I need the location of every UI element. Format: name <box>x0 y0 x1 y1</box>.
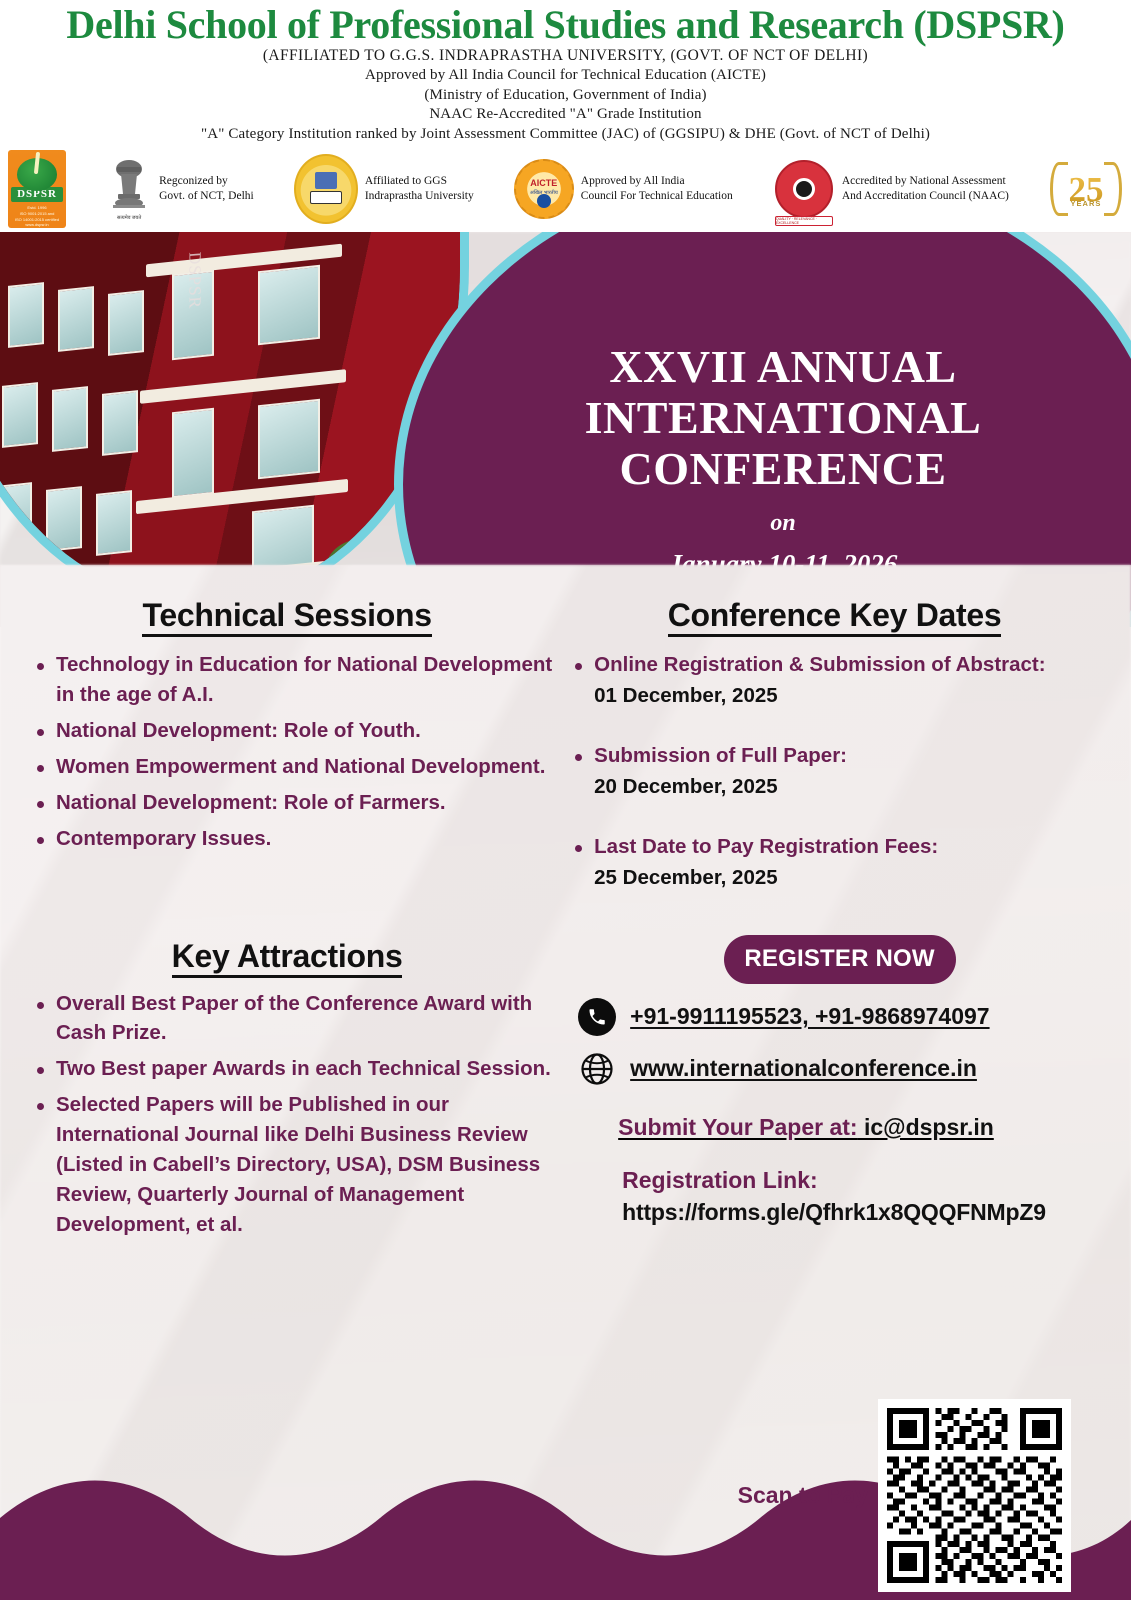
naac-grade-line: NAAC Re-Accredited "A" Grade Institution <box>0 105 1131 125</box>
globe-icon <box>578 1050 616 1088</box>
left-column: Technical Sessions Technology in Educati… <box>18 597 556 1246</box>
ashoka-motto: सत्यमेव जयते <box>117 215 141 221</box>
poster-body: Technical Sessions Technology in Educati… <box>0 565 1131 1600</box>
key-date-value: 01 December, 2025 <box>594 681 1113 711</box>
poster-header: Delhi School of Professional Studies and… <box>0 0 1131 232</box>
naac-inner-shape <box>793 178 815 200</box>
conference-on-label: on <box>770 510 795 537</box>
registration-link-url[interactable]: https://forms.gle/Qfhrk1x8QQQFNMpZ9 <box>622 1199 1113 1226</box>
scan-to-pay-label: Scan to Pay <box>738 1482 868 1509</box>
accreditation-govt-nct-text: Regconized by Govt. of NCT, Delhi <box>159 174 254 203</box>
govt-nct-line-2: Govt. of NCT, Delhi <box>159 189 254 204</box>
registration-section: REGISTER NOW +91-9911195523, +91-9868974… <box>556 935 1113 1226</box>
wreath-right-shape <box>1104 162 1122 216</box>
govt-nct-line-1: Regconized by <box>159 174 254 189</box>
list-item: Technology in Education for National Dev… <box>34 650 556 710</box>
wreath-left-shape <box>1050 162 1068 216</box>
list-item: National Development: Role of Youth. <box>34 716 556 746</box>
affiliation-line: (AFFILIATED TO G.G.S. INDRAPRASTHA UNIVE… <box>0 46 1131 66</box>
submit-paper-email[interactable]: ic@dspsr.in <box>858 1114 994 1140</box>
list-item: Online Registration & Submission of Abst… <box>572 650 1113 711</box>
key-attractions-section: Key Attractions Overall Best Paper of th… <box>18 938 556 1240</box>
list-item: Contemporary Issues. <box>34 824 556 854</box>
key-date-label: Last Date to Pay Registration Fees: <box>594 835 938 858</box>
list-item: Last Date to Pay Registration Fees: 25 D… <box>572 832 1113 893</box>
campus-building-photo: DSPSR <box>0 232 460 602</box>
jac-category-line: "A" Category Institution ranked by Joint… <box>0 125 1131 145</box>
dspsr-globe-shape <box>17 158 57 191</box>
aicte-line-2: Council For Technical Education <box>581 189 733 204</box>
accreditation-strip: DSPSR Estd. 1996ISO 9001:2015 andISO 140… <box>0 144 1131 232</box>
phone-numbers[interactable]: +91-9911195523, +91-9868974097 <box>630 1003 989 1030</box>
phone-icon <box>578 998 616 1036</box>
right-column: Conference Key Dates Online Registration… <box>556 597 1113 1246</box>
website-url[interactable]: www.internationalconference.in <box>630 1055 977 1082</box>
list-item: Submission of Full Paper: 20 December, 2… <box>572 741 1113 802</box>
accreditation-dspsr: DSPSR Estd. 1996ISO 9001:2015 andISO 140… <box>8 150 66 228</box>
key-date-value: 20 December, 2025 <box>594 772 1113 802</box>
anniversary-years-label: YEARS <box>1071 199 1102 208</box>
naac-ribbon: QUALITY · RELEVANCE · EXCELLENCE <box>775 216 833 226</box>
technical-sessions-heading: Technical Sessions <box>18 597 556 634</box>
aicte-lamp-shape <box>537 194 551 208</box>
accreditation-naac-text: Accredited by National Assessment And Ac… <box>842 174 1009 203</box>
content-columns: Technical Sessions Technology in Educati… <box>0 565 1131 1246</box>
submit-paper-line: Submit Your Paper at: ic@dspsr.in <box>566 1114 1113 1141</box>
key-attractions-list: Overall Best Paper of the Conference Awa… <box>18 989 556 1240</box>
payment-qr-code[interactable] <box>878 1399 1071 1592</box>
institution-name: Delhi School of Professional Studies and… <box>0 4 1131 46</box>
register-now-button[interactable]: REGISTER NOW <box>724 935 956 984</box>
list-item: Overall Best Paper of the Conference Awa… <box>34 989 556 1049</box>
conference-title-line-1: XXVII ANNUAL <box>585 342 982 393</box>
key-date-label: Submission of Full Paper: <box>594 744 847 767</box>
accreditation-25-years: 25 YEARS <box>1049 156 1123 222</box>
naac-disc-shape <box>775 160 833 218</box>
key-attractions-heading-text: Key Attractions <box>172 938 403 978</box>
list-item: National Development: Role of Farmers. <box>34 788 556 818</box>
ipu-line-1: Affiliated to GGS <box>365 174 474 189</box>
aicte-wordmark: AICTE <box>530 178 557 188</box>
naac-line-2: And Accreditation Council (NAAC) <box>842 189 1009 204</box>
building-dspsr-letters: DSPSR <box>178 251 210 310</box>
ministry-line: (Ministry of Education, Government of In… <box>0 86 1131 106</box>
key-dates-heading: Conference Key Dates <box>556 597 1113 634</box>
accreditation-aicte: AICTE अखिल भारतीय Approved by All India … <box>514 159 733 219</box>
aicte-line-1: Approved by All India <box>581 174 733 189</box>
registration-link-block: Registration Link: https://forms.gle/Qfh… <box>566 1167 1113 1226</box>
key-dates-heading-text: Conference Key Dates <box>668 597 1002 637</box>
aicte-logo-icon: AICTE अखिल भारतीय <box>514 159 574 219</box>
submit-paper-label: Submit Your Paper at: <box>618 1114 857 1140</box>
key-date-label: Online Registration & Submission of Abst… <box>594 653 1045 676</box>
list-item: Women Empowerment and National Developme… <box>34 752 556 782</box>
naac-line-1: Accredited by National Assessment <box>842 174 1009 189</box>
accreditation-ipu-text: Affiliated to GGS Indraprastha Universit… <box>365 174 474 203</box>
conference-title-line-3: CONFERENCE <box>585 444 982 495</box>
accreditation-govt-nct: सत्यमेव जयते Regconized by Govt. of NCT,… <box>106 152 254 226</box>
key-attractions-heading: Key Attractions <box>18 938 556 975</box>
ipu-line-2: Indraprastha University <box>365 189 474 204</box>
naac-logo-icon: QUALITY · RELEVANCE · EXCELLENCE <box>773 153 835 225</box>
conference-title: XXVII ANNUAL INTERNATIONAL CONFERENCE <box>585 342 982 494</box>
ipu-logo-icon <box>294 154 358 224</box>
aicte-approval-line: Approved by All India Council for Techni… <box>0 66 1131 86</box>
list-item: Selected Papers will be Published in our… <box>34 1090 556 1240</box>
technical-sessions-heading-text: Technical Sessions <box>142 597 431 637</box>
scan-to-pay-block: Scan to Pay <box>738 1399 1071 1592</box>
accreditation-ipu: Affiliated to GGS Indraprastha Universit… <box>294 154 474 224</box>
key-dates-list: Online Registration & Submission of Abst… <box>556 650 1113 893</box>
dspsr-logo-icon: DSPSR Estd. 1996ISO 9001:2015 andISO 140… <box>8 150 66 228</box>
technical-sessions-list: Technology in Education for National Dev… <box>18 650 556 854</box>
phone-contact-row: +91-9911195523, +91-9868974097 <box>566 998 1113 1036</box>
key-date-value: 25 December, 2025 <box>594 863 1113 893</box>
ashoka-emblem-icon: सत्यमेव जयते <box>106 152 152 226</box>
dspsr-logo-fineprint: Estd. 1996ISO 9001:2015 andISO 14001:201… <box>15 205 59 228</box>
accreditation-aicte-text: Approved by All India Council For Techni… <box>581 174 733 203</box>
institution-subtitle-block: (AFFILIATED TO G.G.S. INDRAPRASTHA UNIVE… <box>0 46 1131 144</box>
conference-title-line-2: INTERNATIONAL <box>585 393 982 444</box>
registration-link-label: Registration Link: <box>622 1167 1113 1194</box>
accreditation-naac: QUALITY · RELEVANCE · EXCELLENCE Accredi… <box>773 153 1009 225</box>
list-item: Two Best paper Awards in each Technical … <box>34 1054 556 1084</box>
25-years-logo-icon: 25 YEARS <box>1049 156 1123 222</box>
website-contact-row: www.internationalconference.in <box>566 1050 1113 1088</box>
